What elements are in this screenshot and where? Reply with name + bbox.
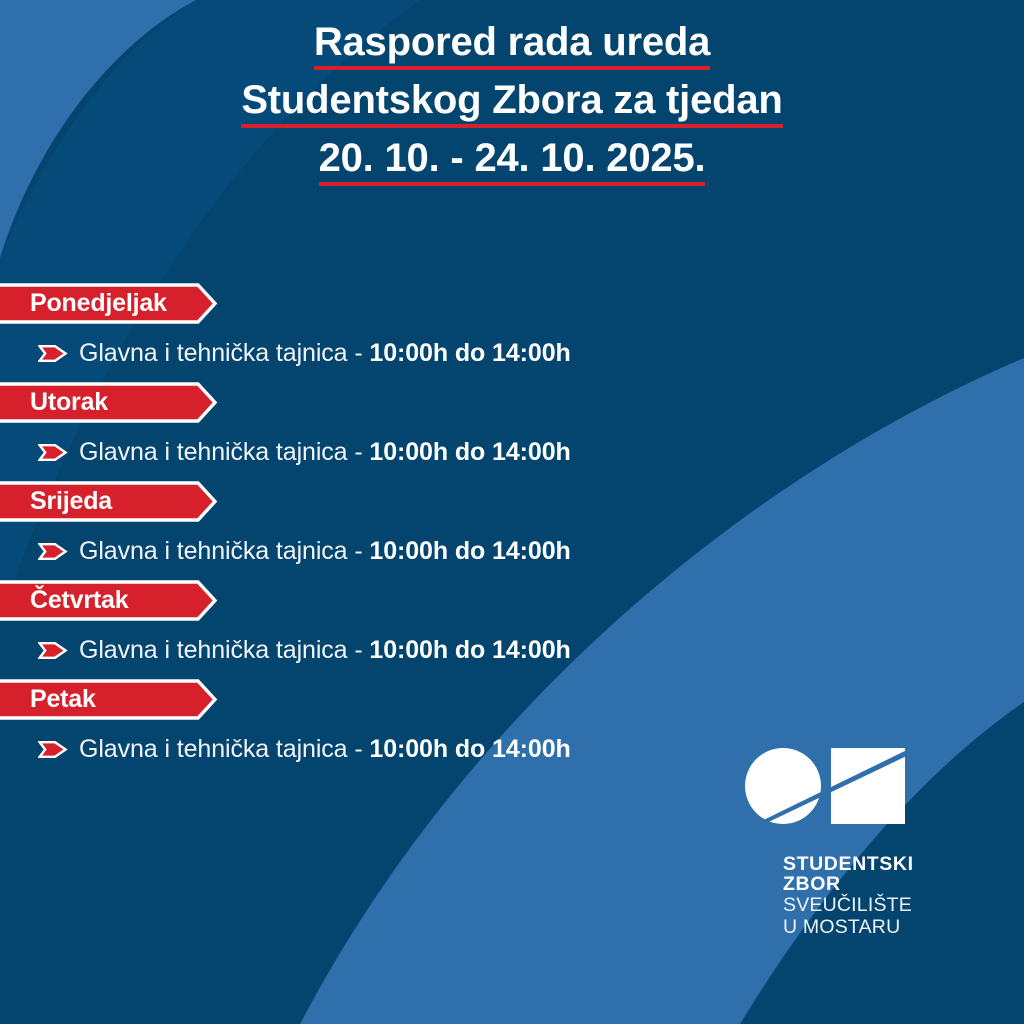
entry-ponedjeljak: Glavna i tehnička tajnica - 10:00h do 14… <box>0 336 1024 370</box>
entry-text-srijeda: Glavna i tehnička tajnica - 10:00h do 14… <box>79 537 571 566</box>
arrow-bullet-icon <box>38 443 68 462</box>
entry-hours-cetvrtak: 10:00h do 14:00h <box>369 636 570 664</box>
day-name-ponedjeljak: Ponedjeljak <box>0 289 167 318</box>
day-badge-utorak: Utorak <box>0 382 218 423</box>
logo-wordmark: STUDENTSKI ZBOR SVEUČILIŠTE U MOSTARU <box>745 855 935 938</box>
day-name-srijeda: Srijeda <box>0 487 112 516</box>
title-line-3: 20. 10. - 24. 10. 2025. <box>319 130 706 188</box>
title-line-1: Raspored rada ureda <box>314 14 710 72</box>
day-badge-cetvrtak: Četvrtak <box>0 580 218 621</box>
entry-text-utorak: Glavna i tehnička tajnica - 10:00h do 14… <box>79 438 571 467</box>
day-group-cetvrtak: Četvrtak Glavna i tehnička tajnica - 10:… <box>0 580 1024 667</box>
entry-utorak: Glavna i tehnička tajnica - 10:00h do 14… <box>0 435 1024 469</box>
day-group-ponedjeljak: Ponedjeljak Glavna i tehnička tajnica - … <box>0 283 1024 370</box>
arrow-bullet-icon <box>38 641 68 660</box>
arrow-bullet-icon <box>38 740 68 759</box>
entry-hours-ponedjeljak: 10:00h do 14:00h <box>369 339 570 367</box>
organization-logo: STUDENTSKI ZBOR SVEUČILIŠTE U MOSTARU <box>745 748 935 938</box>
poster-canvas: Raspored rada ureda Studentskog Zbora za… <box>0 0 1024 1024</box>
entry-srijeda: Glavna i tehnička tajnica - 10:00h do 14… <box>0 534 1024 568</box>
entry-label-utorak: Glavna i tehnička tajnica - <box>79 438 369 466</box>
schedule-list: Ponedjeljak Glavna i tehnička tajnica - … <box>0 283 1024 778</box>
day-badge-srijeda: Srijeda <box>0 481 218 522</box>
entry-label-cetvrtak: Glavna i tehnička tajnica - <box>79 636 369 664</box>
entry-hours-petak: 10:00h do 14:00h <box>369 735 570 763</box>
title-line-2: Studentskog Zbora za tjedan <box>241 72 782 130</box>
logo-line-1: STUDENTSKI <box>783 855 935 875</box>
entry-label-srijeda: Glavna i tehnička tajnica - <box>79 537 369 565</box>
day-group-utorak: Utorak Glavna i tehnička tajnica - 10:00… <box>0 382 1024 469</box>
logo-line-3: SVEUČILIŠTE <box>783 895 935 917</box>
day-name-petak: Petak <box>0 685 96 714</box>
entry-hours-utorak: 10:00h do 14:00h <box>369 438 570 466</box>
poster-title: Raspored rada ureda Studentskog Zbora za… <box>0 14 1024 188</box>
sz-monogram-icon <box>745 748 905 846</box>
day-badge-petak: Petak <box>0 679 218 720</box>
day-name-cetvrtak: Četvrtak <box>0 586 128 615</box>
day-name-utorak: Utorak <box>0 388 108 417</box>
title-row-3: 20. 10. - 24. 10. 2025. <box>0 130 1024 188</box>
logo-line-4: U MOSTARU <box>783 917 935 939</box>
entry-text-ponedjeljak: Glavna i tehnička tajnica - 10:00h do 14… <box>79 339 571 368</box>
entry-label-petak: Glavna i tehnička tajnica - <box>79 735 369 763</box>
entry-text-cetvrtak: Glavna i tehnička tajnica - 10:00h do 14… <box>79 636 571 665</box>
day-badge-ponedjeljak: Ponedjeljak <box>0 283 218 324</box>
arrow-bullet-icon <box>38 542 68 561</box>
day-group-srijeda: Srijeda Glavna i tehnička tajnica - 10:0… <box>0 481 1024 568</box>
entry-cetvrtak: Glavna i tehnička tajnica - 10:00h do 14… <box>0 633 1024 667</box>
entry-text-petak: Glavna i tehnička tajnica - 10:00h do 14… <box>79 735 571 764</box>
entry-label-ponedjeljak: Glavna i tehnička tajnica - <box>79 339 369 367</box>
arrow-bullet-icon <box>38 344 68 363</box>
entry-hours-srijeda: 10:00h do 14:00h <box>369 537 570 565</box>
logo-line-2: ZBOR <box>783 875 935 895</box>
title-row-2: Studentskog Zbora za tjedan <box>0 72 1024 130</box>
title-row-1: Raspored rada ureda <box>0 14 1024 72</box>
